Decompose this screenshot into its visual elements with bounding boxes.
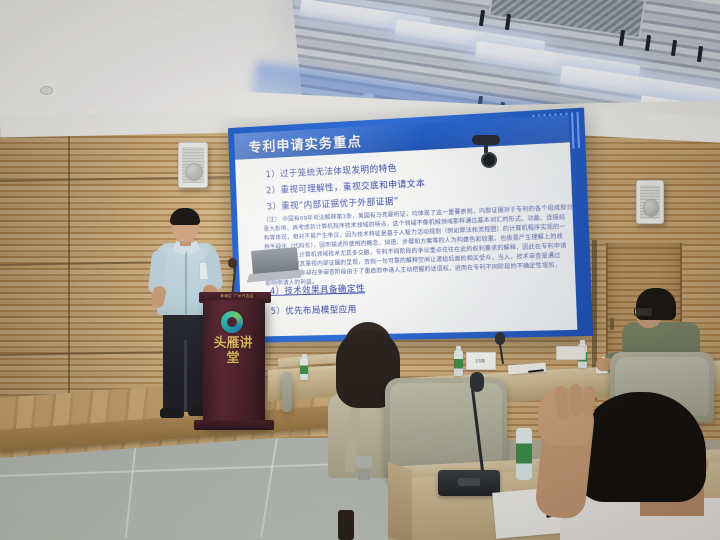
bag-buckle <box>356 456 372 468</box>
podium-top-label: 黄埔区 广州开发区 <box>210 294 264 299</box>
finger <box>582 386 596 417</box>
name-card-text: 王志刚 <box>468 358 492 363</box>
wall-speaker-right <box>636 180 664 224</box>
speaker-cone <box>185 163 203 181</box>
speaker-shoe <box>160 408 184 418</box>
chair-cushion <box>390 383 502 472</box>
attendee-front-hair <box>576 392 706 502</box>
smoke-detector <box>40 86 53 95</box>
microphone-mute-button[interactable] <box>458 478 480 486</box>
slide-bullet-5: 5）优先布局模型应用 <box>270 303 356 317</box>
desk-front-side-panel <box>388 463 412 540</box>
projection-screen: 专利申请实务重点 1）过于笼统无法体现发明的特色 2）重视可理解性，重视交底和申… <box>228 108 593 343</box>
podium-label: 头雁讲堂 <box>213 336 253 366</box>
desk-microphone-base[interactable] <box>556 346 586 360</box>
ceiling-camera-body <box>472 135 500 145</box>
slide-bullet-1: 1）过于笼统无法体现发明的特色 <box>265 162 397 181</box>
shirt-placket <box>185 244 187 314</box>
speaker-leg-gap <box>184 340 187 412</box>
gooseneck-microphone-head <box>470 372 484 392</box>
attendee-woman-leg <box>338 510 354 540</box>
speaker-hair <box>170 208 200 225</box>
finger <box>569 384 582 416</box>
bag-buckle <box>358 470 370 480</box>
ceiling-camera-lens-icon <box>481 152 497 168</box>
slide-bullet-4: 4）技术效果具备确定性 <box>270 282 366 297</box>
water-bottle[interactable] <box>516 428 532 480</box>
glasses-icon <box>634 308 652 316</box>
swirl-logo-inner <box>227 317 237 327</box>
slide-bullet-2: 2）重视可理解性，重视交底和申请文本 <box>266 177 426 197</box>
desk-microphone-head <box>495 332 505 345</box>
podium-mic-head <box>228 258 237 268</box>
chair-armrest[interactable] <box>282 372 292 412</box>
water-bottle[interactable] <box>454 350 463 376</box>
photo-scene: 专利申请实务重点 1）过于笼统无法体现发明的特色 2）重视可理解性，重视交底和申… <box>0 0 720 540</box>
wall-speaker-left <box>178 142 208 188</box>
slide-paragraph: （注） 中国有09年司法解释第3条，美国有马克曼听证，均体现了这一重要原则，内部… <box>263 204 571 289</box>
water-bottle[interactable] <box>300 358 308 380</box>
slide-bullet-3: 3）重视“内部证据优于外部证据” <box>266 195 399 213</box>
slide-page: 专利申请实务重点 1）过于笼统无法体现发明的特色 2）重视可理解性，重视交底和申… <box>234 115 577 337</box>
podium-base <box>194 420 274 430</box>
speaker-cone <box>643 199 659 217</box>
